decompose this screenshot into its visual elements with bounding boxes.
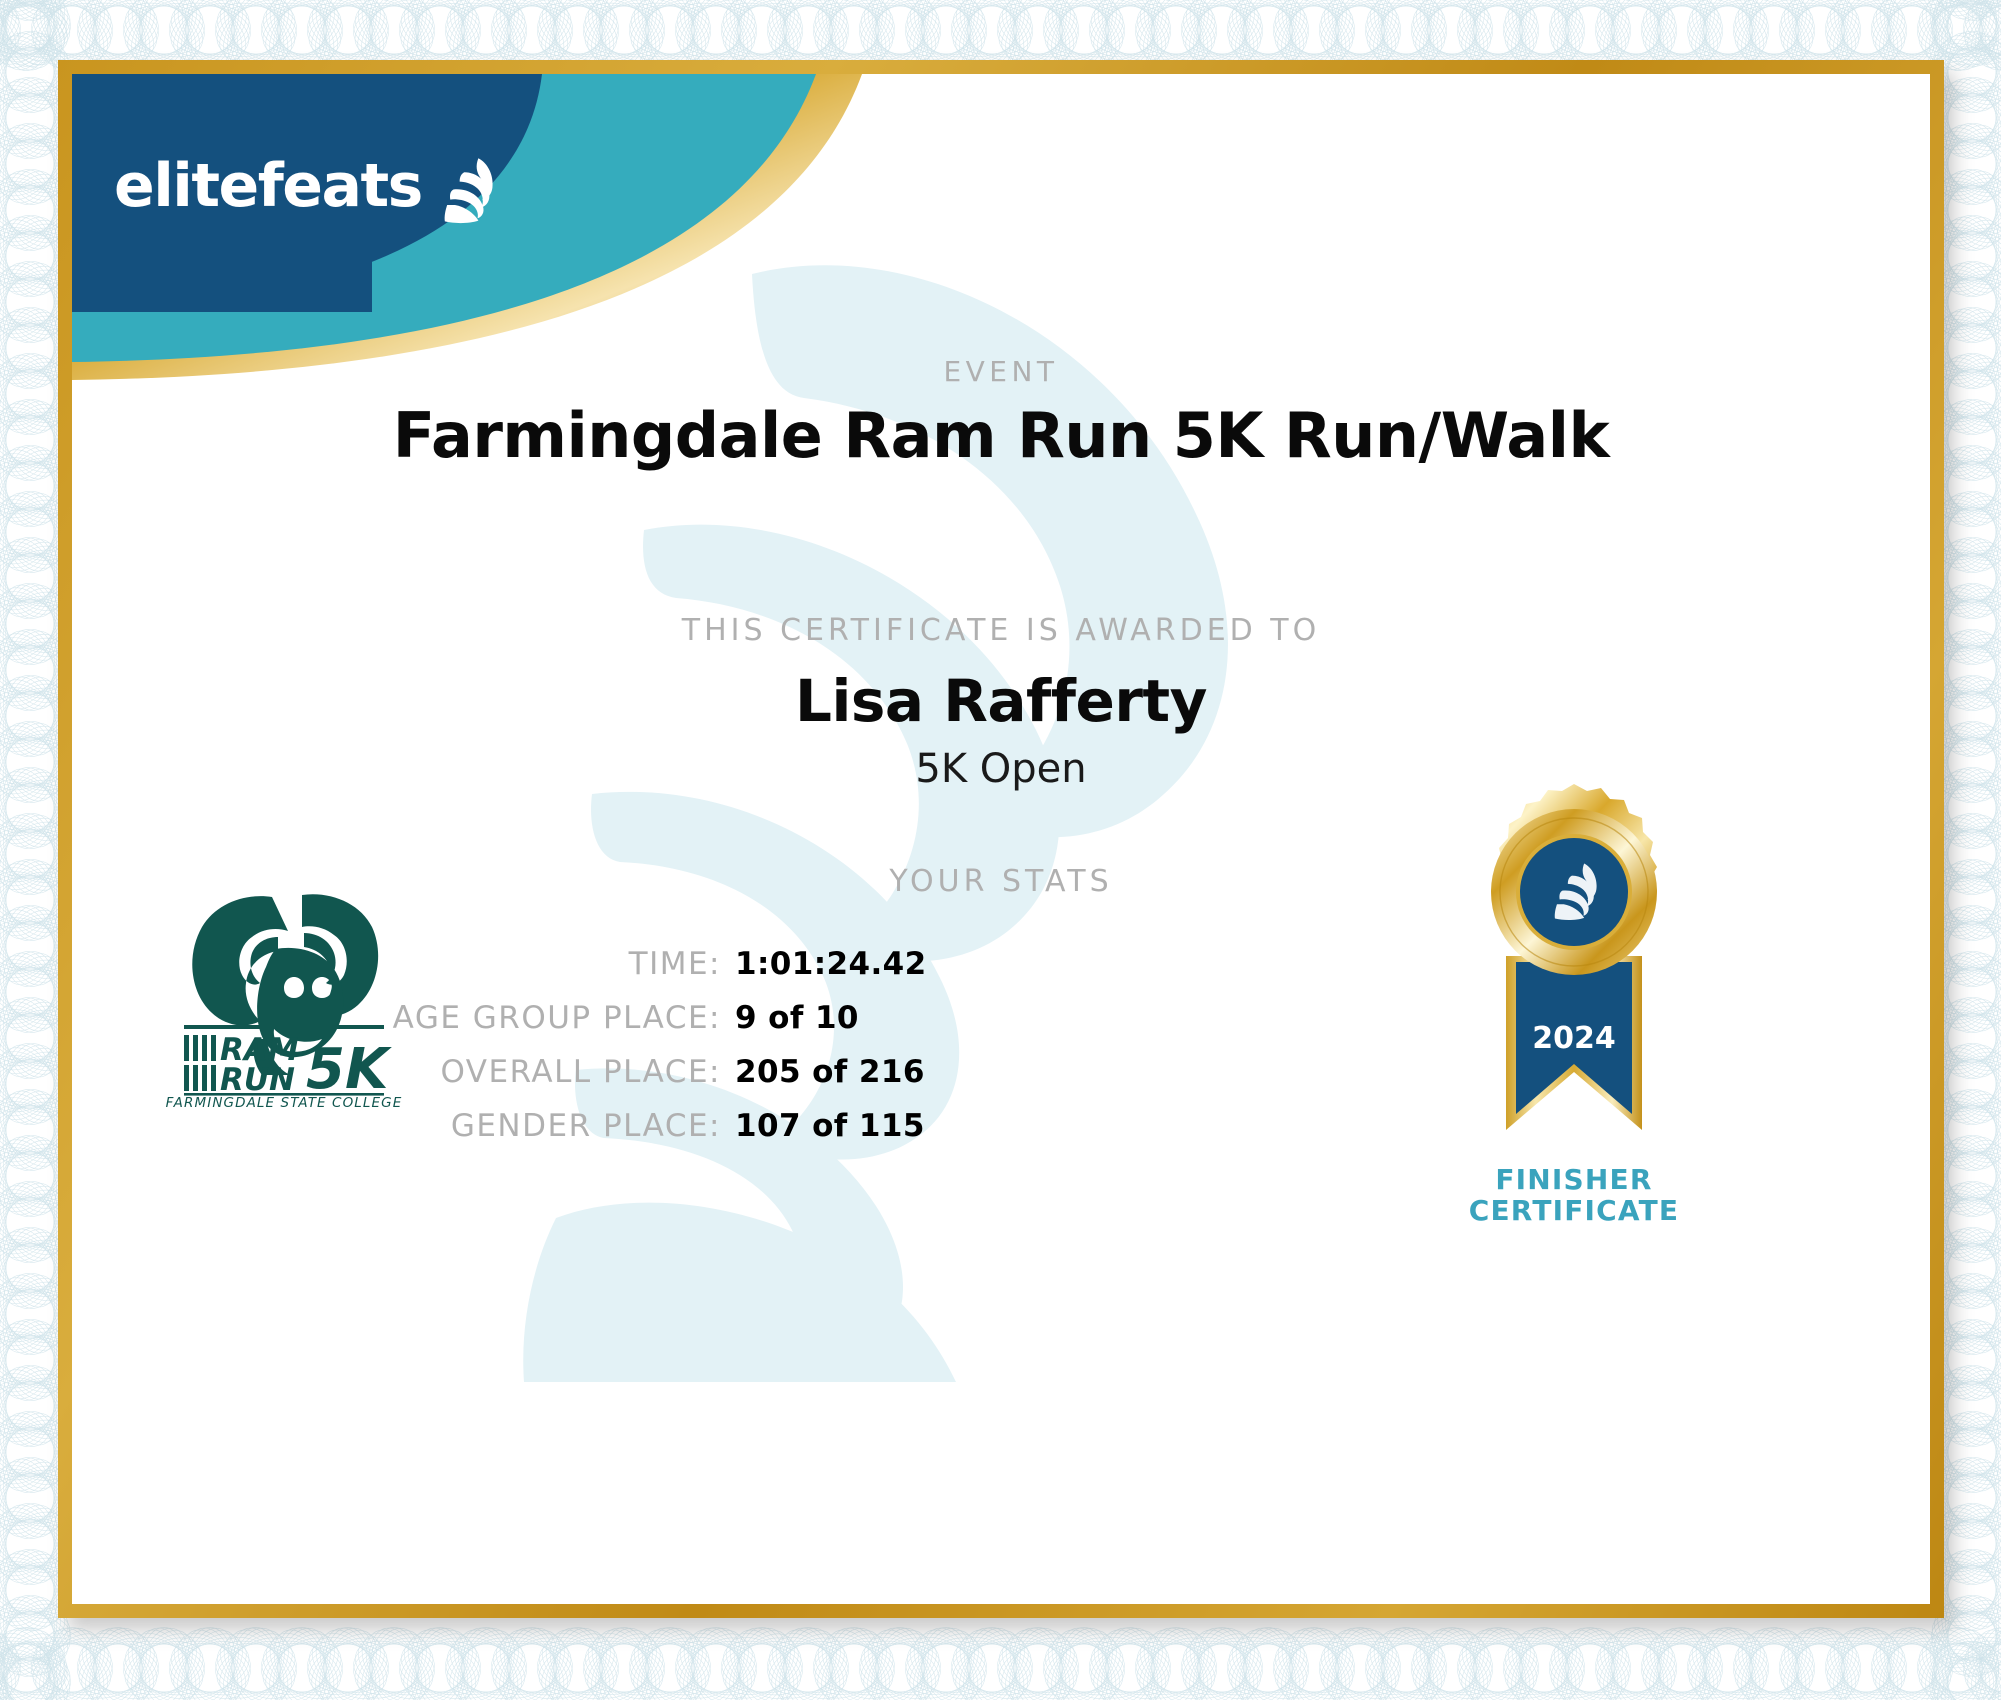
stat-value: 107 of 115 xyxy=(721,1108,1081,1144)
stat-value: 9 of 10 xyxy=(721,1000,1081,1036)
ram-logo-subtitle: FARMINGDALE STATE COLLEGE xyxy=(166,1095,403,1109)
stat-label: GENDER PLACE: xyxy=(221,1108,721,1144)
stat-value: 205 of 216 xyxy=(721,1054,1081,1090)
recipient-name: Lisa Rafferty xyxy=(72,667,1930,735)
medal-year: 2024 xyxy=(1532,1021,1616,1056)
ram-logo-5k: 5K xyxy=(306,1037,392,1102)
medal-caption-line1: FINISHER xyxy=(1434,1164,1714,1195)
medal-caption: FINISHER CERTIFICATE xyxy=(1434,1164,1714,1227)
event-title: Farmingdale Ram Run 5K Run/Walk xyxy=(72,399,1930,472)
ram-logo-line2: RUN xyxy=(220,1062,295,1098)
ram-run-5k-logo: RAM RUN 5K FARMINGDALE STATE COLLEGE xyxy=(154,879,404,1109)
awarded-to-label: THIS CERTIFICATE IS AWARDED TO xyxy=(72,613,1930,648)
stat-value: 1:01:24.42 xyxy=(721,946,1081,982)
gold-frame-border: elitefeats EVENT Farmingdale Ram Run 5K … xyxy=(58,60,1944,1618)
event-kicker-label: EVENT xyxy=(72,355,1930,388)
certificate-page: elitefeats EVENT Farmingdale Ram Run 5K … xyxy=(0,0,2001,1700)
medal-caption-line2: CERTIFICATE xyxy=(1434,1195,1714,1226)
elitefeats-logo: elitefeats xyxy=(114,142,508,230)
brand-wordmark: elitefeats xyxy=(114,156,422,216)
stat-row: GENDER PLACE: 107 of 115 xyxy=(72,1108,1230,1144)
winged-foot-icon xyxy=(430,152,508,230)
certificate-sheet: elitefeats EVENT Farmingdale Ram Run 5K … xyxy=(72,74,1930,1604)
finisher-medal: 2024 xyxy=(1454,780,1694,1210)
